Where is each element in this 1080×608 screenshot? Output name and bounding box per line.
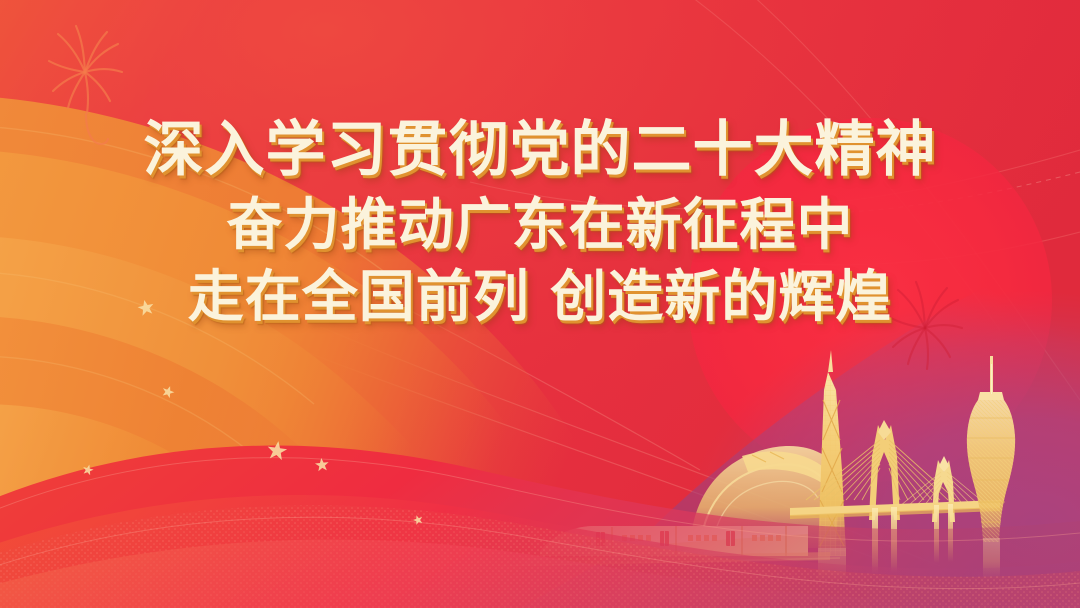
gold-stars <box>0 0 1080 608</box>
poster-canvas: 深入学习贯彻党的二十大精神 奋力推动广东在新征程中 走在全国前列 创造新的辉煌 <box>0 0 1080 608</box>
